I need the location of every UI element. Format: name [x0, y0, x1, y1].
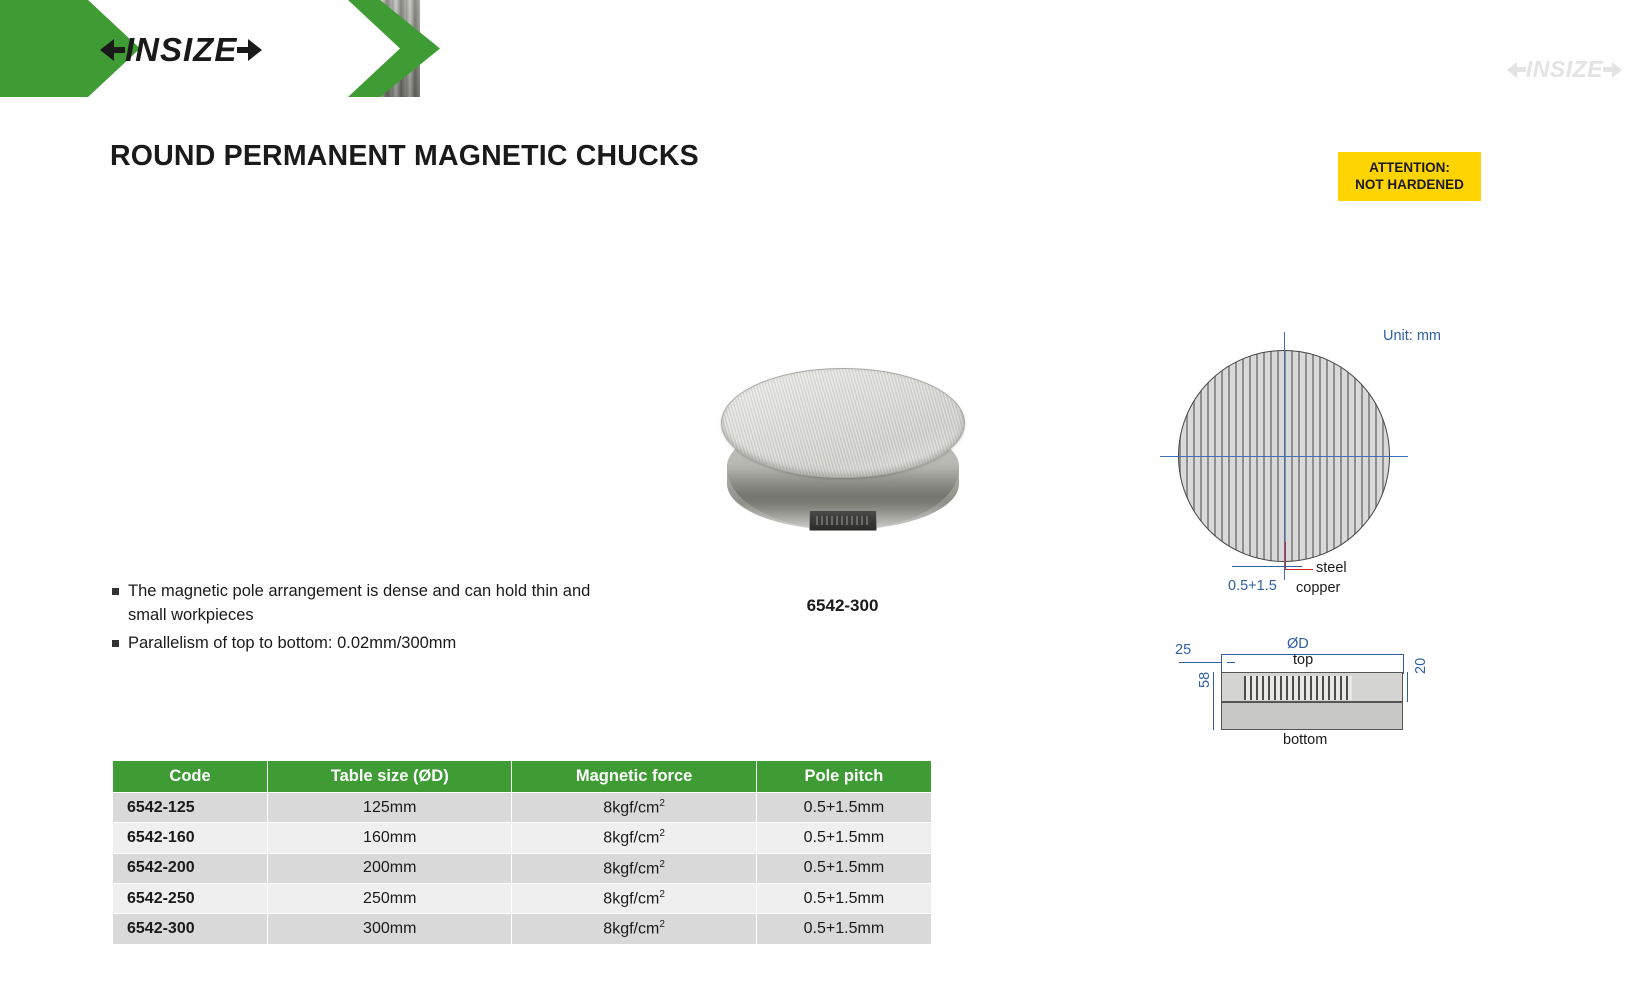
cell-magnetic-force-exponent: 2: [659, 798, 665, 809]
cell-pole-pitch: 0.5+1.5mm: [756, 793, 931, 823]
product-photo: [715, 360, 970, 560]
cell-pole-pitch: 0.5+1.5mm: [756, 823, 931, 853]
cell-code: 6542-300: [113, 914, 268, 944]
attention-badge-line1: ATTENTION:: [1369, 160, 1450, 177]
cell-pole-pitch: 0.5+1.5mm: [756, 853, 931, 883]
watermark-right-arrow-icon: [1612, 62, 1622, 78]
list-item: Parallelism of top to bottom: 0.02mm/300…: [112, 632, 592, 656]
cell-code: 6542-250: [113, 883, 268, 913]
side-view-top-block: [1221, 672, 1403, 702]
insize-watermark: INSIZE: [1507, 56, 1622, 83]
table-row: 6542-300 300mm 8kgf/cm2 0.5+1.5mm: [113, 914, 932, 944]
table-row: 6542-125 125mm 8kgf/cm2 0.5+1.5mm: [113, 793, 932, 823]
chuck-nameplate: [809, 510, 877, 531]
dimension-58-line: [1213, 672, 1214, 730]
page-title: ROUND PERMANENT MAGNETIC CHUCKS: [110, 140, 699, 173]
bottom-label: bottom: [1283, 732, 1327, 748]
specification-table: Code Table size (ØD) Magnetic force Pole…: [112, 760, 932, 945]
logo-text: INSIZE: [125, 31, 237, 69]
list-item: The magnetic pole arrangement is dense a…: [112, 580, 592, 628]
logo-left-bar-icon: [113, 47, 125, 53]
table-row: 6542-200 200mm 8kgf/cm2 0.5+1.5mm: [113, 853, 932, 883]
cell-magnetic-force: 8kgf/cm2: [512, 883, 756, 913]
cell-magnetic-force-value: 8kgf/cm: [603, 799, 659, 816]
cell-pole-pitch: 0.5+1.5mm: [756, 883, 931, 913]
side-view-bottom-block: [1221, 702, 1403, 730]
attention-badge-line2: NOT HARDENED: [1355, 177, 1464, 194]
center-line-horizontal: [1160, 456, 1408, 457]
dimension-58-label: 58: [1197, 672, 1213, 688]
od-dimension-tick-left: [1221, 654, 1222, 674]
cell-magnetic-force: 8kgf/cm2: [512, 793, 756, 823]
cell-code: 6542-200: [113, 853, 268, 883]
cell-magnetic-force-exponent: 2: [659, 889, 665, 900]
steel-label: steel: [1316, 560, 1347, 576]
feature-text: The magnetic pole arrangement is dense a…: [128, 580, 592, 628]
cell-table-size: 250mm: [268, 883, 512, 913]
cell-magnetic-force-exponent: 2: [659, 919, 665, 930]
table-row: 6542-160 160mm 8kgf/cm2 0.5+1.5mm: [113, 823, 932, 853]
steel-leader-line-vertical: [1285, 542, 1286, 570]
bullet-square-icon: [112, 640, 119, 647]
cell-magnetic-force-value: 8kgf/cm: [603, 890, 659, 907]
cell-magnetic-force-exponent: 2: [659, 859, 665, 870]
copper-label: copper: [1296, 580, 1340, 596]
cell-table-size: 200mm: [268, 853, 512, 883]
cell-magnetic-force: 8kgf/cm2: [512, 914, 756, 944]
product-photo-caption: 6542-300: [715, 596, 970, 616]
feature-list: The magnetic pole arrangement is dense a…: [112, 580, 592, 660]
watermark-text: INSIZE: [1526, 56, 1603, 83]
logo-left-arrow-icon: [100, 39, 114, 61]
diagram-top-view: [1178, 350, 1390, 562]
dimension-20-line: [1407, 672, 1408, 702]
insize-logo: INSIZE: [100, 33, 262, 67]
attention-badge: ATTENTION: NOT HARDENED: [1338, 152, 1481, 201]
cell-magnetic-force-exponent: 2: [659, 828, 665, 839]
feature-text: Parallelism of top to bottom: 0.02mm/300…: [128, 632, 456, 656]
steel-leader-line-horizontal: [1285, 569, 1313, 570]
bullet-square-icon: [112, 588, 119, 595]
top-label: top: [1293, 652, 1313, 668]
column-header-code: Code: [113, 761, 268, 793]
od-dimension-tick-right: [1403, 654, 1404, 674]
dimension-20-label: 20: [1413, 658, 1429, 674]
table-row: 6542-250 250mm 8kgf/cm2 0.5+1.5mm: [113, 883, 932, 913]
cell-table-size: 160mm: [268, 823, 512, 853]
cell-table-size: 125mm: [268, 793, 512, 823]
column-header-table-size: Table size (ØD): [268, 761, 512, 793]
table-header-row: Code Table size (ØD) Magnetic force Pole…: [113, 761, 932, 793]
cell-magnetic-force-value: 8kgf/cm: [603, 830, 659, 847]
cell-table-size: 300mm: [268, 914, 512, 944]
cell-code: 6542-125: [113, 793, 268, 823]
pole-pitch-dimension-line: [1232, 566, 1302, 567]
chuck-top-surface: [721, 368, 965, 478]
cell-pole-pitch: 0.5+1.5mm: [756, 914, 931, 944]
watermark-right-bar-icon: [1603, 67, 1612, 72]
od-label: ØD: [1287, 636, 1309, 652]
cell-magnetic-force-value: 8kgf/cm: [603, 860, 659, 877]
cell-magnetic-force: 8kgf/cm2: [512, 823, 756, 853]
cell-magnetic-force-value: 8kgf/cm: [603, 921, 659, 938]
column-header-magnetic-force: Magnetic force: [512, 761, 756, 793]
logo-right-arrow-icon: [248, 39, 262, 61]
pole-pitch-label: 0.5+1.5: [1228, 578, 1277, 594]
diagram-side-view: ØD top bottom 25 58 20: [1175, 640, 1425, 760]
cell-magnetic-force: 8kgf/cm2: [512, 853, 756, 883]
dimension-25-line: [1179, 662, 1221, 663]
watermark-left-bar-icon: [1517, 67, 1526, 72]
watermark-left-arrow-icon: [1507, 62, 1517, 78]
page-header: INSIZE INSIZE: [0, 0, 1632, 97]
dimension-25-tick: [1227, 662, 1235, 663]
unit-label: Unit: mm: [1383, 328, 1441, 344]
column-header-pole-pitch: Pole pitch: [756, 761, 931, 793]
dimension-25-label: 25: [1175, 642, 1191, 658]
cell-code: 6542-160: [113, 823, 268, 853]
